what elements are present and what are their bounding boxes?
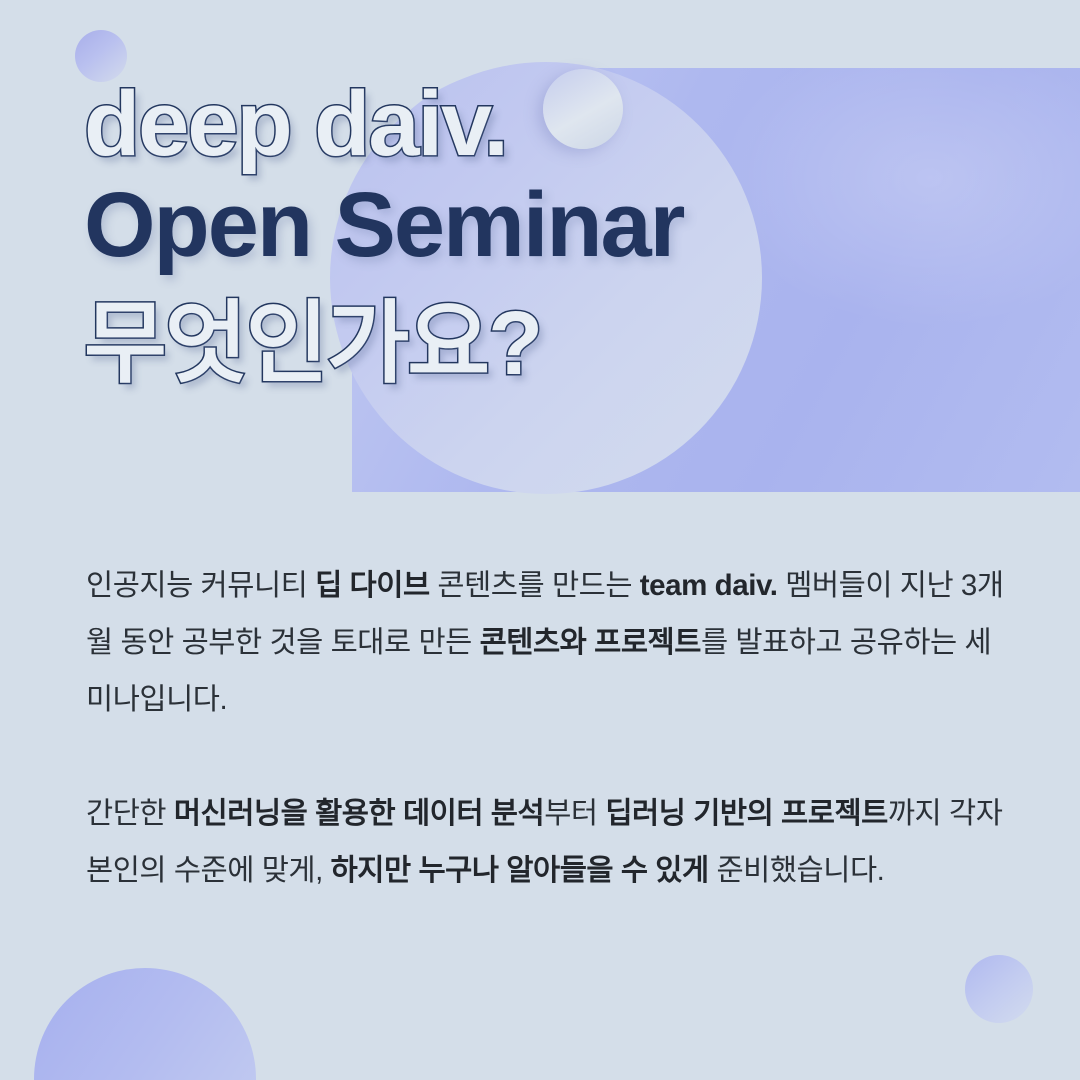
p2-segment-1: 간단한 (86, 797, 174, 830)
headline-block: deep daiv. Open Seminar 무엇인가요? (84, 78, 683, 391)
p1-bold-deep-dive: 딥 다이브 (315, 569, 430, 602)
body-text-block: 인공지능 커뮤니티 딥 다이브 콘텐츠를 만드는 team daiv. 멤버들이… (86, 557, 1016, 899)
p2-bold-ml-analysis: 머신러닝을 활용한 데이터 분석 (174, 797, 544, 830)
p1-bold-team-daiv: team daiv. (640, 569, 778, 602)
seminar-title: Open Seminar (84, 178, 683, 274)
p2-segment-2: 부터 (544, 797, 605, 830)
question-headline: 무엇인가요? (84, 298, 683, 392)
p2-bold-dl-project: 딥러닝 기반의 프로젝트 (605, 797, 887, 830)
paragraph-one: 인공지능 커뮤니티 딥 다이브 콘텐츠를 만드는 team daiv. 멤버들이… (86, 557, 1016, 728)
p1-segment-2: 콘텐츠를 만드는 (430, 569, 640, 602)
paragraph-two: 간단한 머신러닝을 활용한 데이터 분석부터 딥러닝 기반의 프로젝트까지 각자… (86, 785, 1016, 899)
brand-title: deep daiv. (84, 78, 683, 172)
poster-content: deep daiv. Open Seminar 무엇인가요? 인공지능 커뮤니티… (0, 0, 1080, 1080)
p2-bold-anyone-understands: 하지만 누구나 알아들을 수 있게 (331, 854, 709, 887)
p1-segment-1: 인공지능 커뮤니티 (86, 569, 315, 602)
p2-segment-4: 준비했습니다. (709, 854, 885, 887)
seminar-poster: deep daiv. Open Seminar 무엇인가요? 인공지능 커뮤니티… (0, 0, 1080, 1080)
p1-bold-contents-projects: 콘텐츠와 프로젝트 (480, 626, 701, 659)
